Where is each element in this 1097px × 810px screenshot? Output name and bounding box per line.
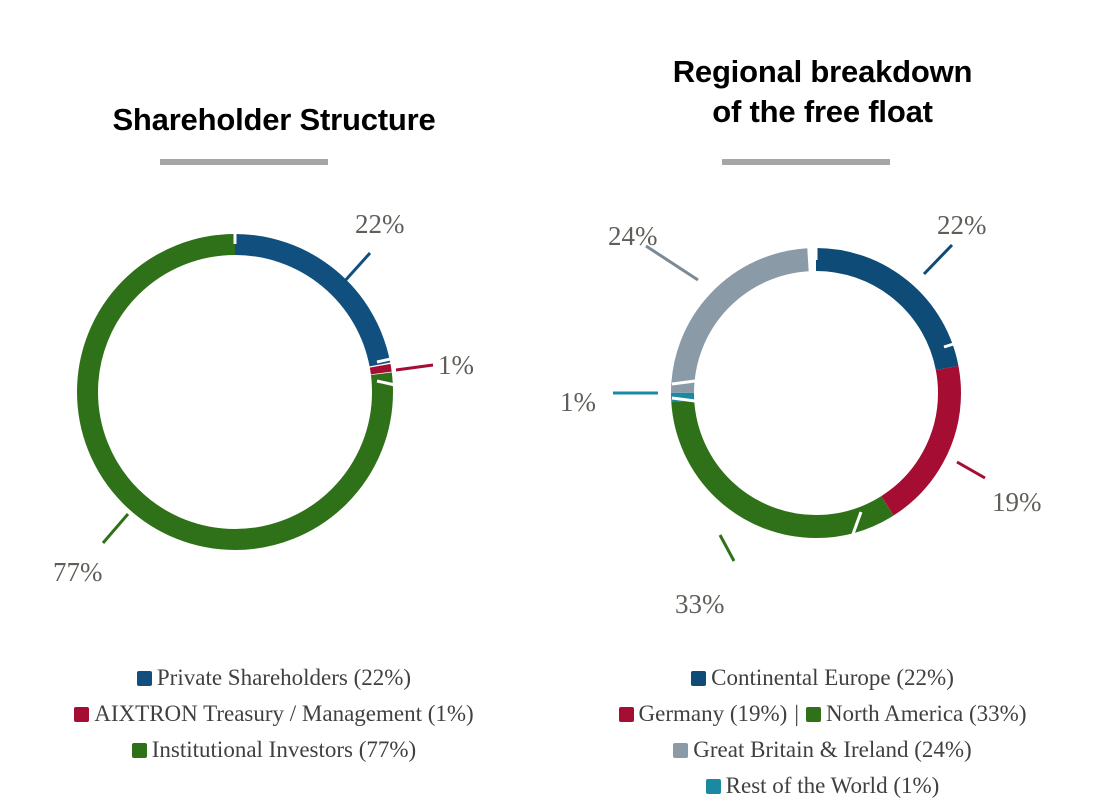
legend-swatch-icon xyxy=(691,671,706,686)
legend-label: AIXTRON Treasury / Management (1%) xyxy=(94,701,473,726)
left-slice-private-shareholders[interactable] xyxy=(88,245,383,540)
right-gap-green-teal xyxy=(672,381,695,384)
left-title-underline xyxy=(160,159,328,165)
left-pct-label-22: 22% xyxy=(355,209,405,239)
legend-item-continental-europe[interactable]: Continental Europe (22%) xyxy=(691,660,954,696)
legend-separator: | xyxy=(787,696,806,732)
legend-row: AIXTRON Treasury / Management (1%) xyxy=(0,696,548,732)
left-slice-institutional-investors[interactable] xyxy=(88,245,383,540)
left-pct-label-1: 1% xyxy=(438,350,474,380)
left-gap-blue-red xyxy=(377,358,395,362)
right-legend: Continental Europe (22%) Germany (19%) |… xyxy=(548,660,1097,804)
legend-label: Great Britain & Ireland (24%) xyxy=(693,737,971,762)
right-leader-line-33 xyxy=(720,535,734,561)
right-slice-rest-of-the-world[interactable] xyxy=(683,260,950,527)
legend-swatch-icon xyxy=(706,779,721,794)
right-leader-line-22 xyxy=(924,245,952,274)
left-pct-label-77: 77% xyxy=(53,557,103,587)
right-leader-line-24 xyxy=(646,246,698,280)
right-title-underline xyxy=(722,159,890,165)
right-pct-label-19: 19% xyxy=(992,487,1042,517)
right-slice-germany[interactable] xyxy=(683,260,950,527)
legend-item-institutional-investors[interactable]: Institutional Investors (77%) xyxy=(132,732,416,768)
left-leader-line-77 xyxy=(103,514,128,543)
shareholder-structure-panel: Shareholder Structure xyxy=(0,0,548,810)
legend-row: Institutional Investors (77%) xyxy=(0,732,548,768)
right-gap-crimson-green xyxy=(853,512,861,534)
right-chart-title: Regional breakdown of the free float xyxy=(548,52,1097,132)
legend-row: Great Britain & Ireland (24%) xyxy=(548,732,1097,768)
slide-canvas: Shareholder Structure xyxy=(0,0,1097,810)
legend-swatch-icon xyxy=(137,671,152,686)
legend-swatch-icon xyxy=(132,743,147,758)
right-slice-great-britain-ireland[interactable] xyxy=(683,260,950,527)
left-leader-line-22 xyxy=(343,253,370,283)
right-pct-label-33: 33% xyxy=(675,589,725,619)
left-leader-line-1 xyxy=(396,365,433,370)
left-legend: Private Shareholders (22%) AIXTRON Treas… xyxy=(0,660,548,768)
legend-swatch-icon xyxy=(806,707,821,722)
left-gap-red-green xyxy=(377,381,395,385)
legend-label: Institutional Investors (77%) xyxy=(152,737,416,762)
legend-swatch-icon xyxy=(74,707,89,722)
legend-label: Germany (19%) xyxy=(639,701,788,726)
legend-label: North America (33%) xyxy=(826,701,1027,726)
left-slice-treasury-management[interactable] xyxy=(88,245,383,540)
right-donut-ring xyxy=(672,236,966,534)
legend-swatch-icon xyxy=(619,707,634,722)
left-donut-ring xyxy=(88,224,396,540)
right-pct-label-22: 22% xyxy=(937,210,987,240)
right-slice-north-america[interactable] xyxy=(683,260,950,527)
legend-swatch-icon xyxy=(673,743,688,758)
legend-label: Private Shareholders (22%) xyxy=(157,665,411,690)
legend-row: Continental Europe (22%) xyxy=(548,660,1097,696)
right-pct-label-1: 1% xyxy=(560,387,596,417)
regional-breakdown-panel: Regional breakdown of the free float xyxy=(548,0,1097,810)
right-slice-continental-europe[interactable] xyxy=(683,260,950,527)
legend-item-germany[interactable]: Germany (19%) xyxy=(619,696,788,732)
right-pct-label-24: 24% xyxy=(608,221,658,251)
legend-item-great-britain-ireland[interactable]: Great Britain & Ireland (24%) xyxy=(673,732,971,768)
legend-label: Continental Europe (22%) xyxy=(711,665,954,690)
left-chart-title: Shareholder Structure xyxy=(0,100,548,140)
legend-row: Private Shareholders (22%) xyxy=(0,660,548,696)
right-chart-title-line1: Regional breakdown xyxy=(548,52,1097,92)
legend-item-private-shareholders[interactable]: Private Shareholders (22%) xyxy=(137,660,411,696)
legend-label: Rest of the World (1%) xyxy=(726,773,940,798)
right-chart-title-line2: of the free float xyxy=(548,92,1097,132)
legend-row: Germany (19%) | North America (33%) xyxy=(548,696,1097,732)
right-leader-line-19 xyxy=(957,462,985,478)
legend-row: Rest of the World (1%) xyxy=(548,768,1097,804)
legend-item-aixtron-treasury-management[interactable]: AIXTRON Treasury / Management (1%) xyxy=(74,696,473,732)
legend-item-north-america[interactable]: North America (33%) xyxy=(806,696,1027,732)
legend-item-rest-of-the-world[interactable]: Rest of the World (1%) xyxy=(706,768,940,804)
right-gap-teal-gray xyxy=(672,398,695,401)
right-gap-navy-crimson xyxy=(944,340,966,347)
